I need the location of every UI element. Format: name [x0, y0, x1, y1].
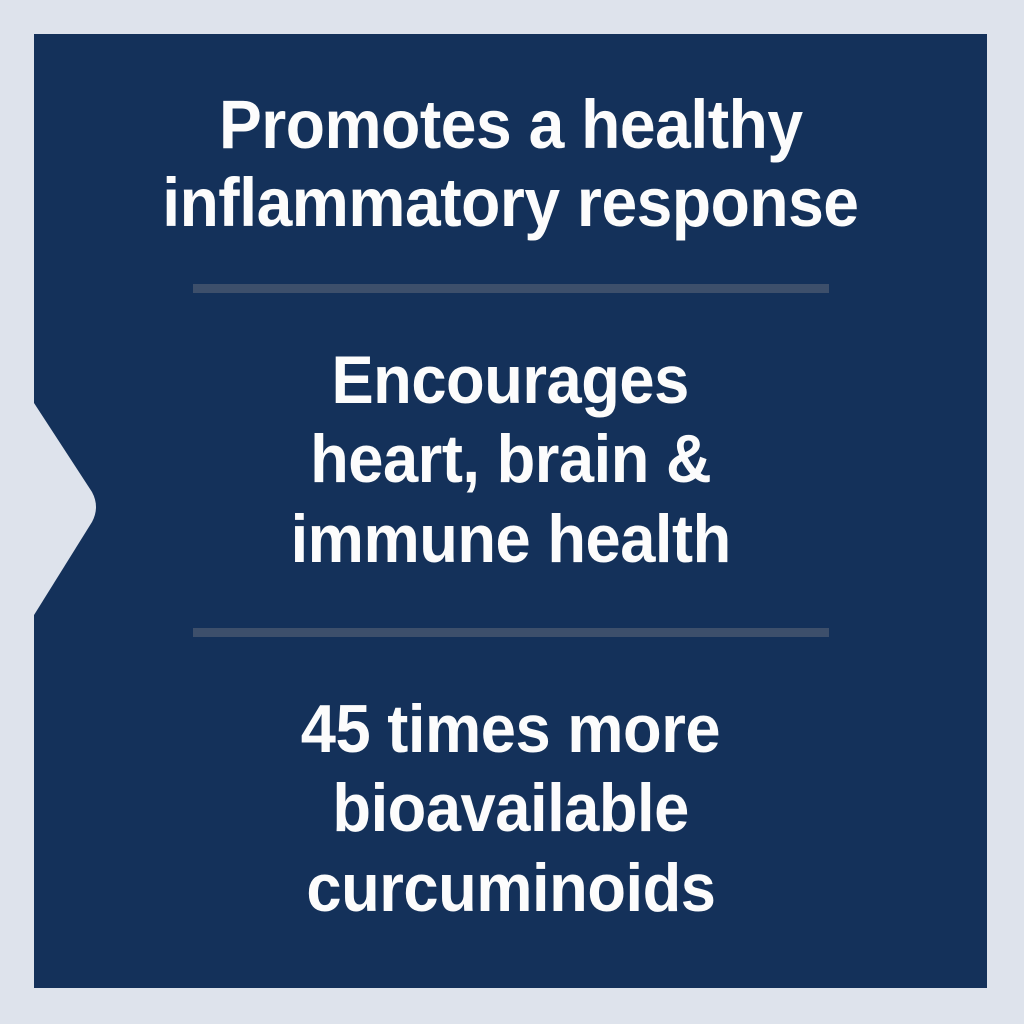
benefit-divider-row-1	[34, 271, 987, 305]
benefit-divider-row-2	[34, 615, 987, 649]
divider	[193, 284, 829, 293]
benefit-item-heart-brain-immune-health: Encourages heart, brain & immune health	[34, 305, 987, 615]
benefit-line: bioavailable	[332, 769, 688, 849]
benefits-list: Promotes a healthy inflammatory response…	[34, 34, 987, 988]
benefit-item-healthy-inflammatory-response: Promotes a healthy inflammatory response	[34, 34, 987, 271]
benefit-line: inflammatory response	[162, 164, 858, 242]
benefit-line: curcuminoids	[306, 849, 715, 929]
benefit-item-bioavailable-curcuminoids: 45 times more bioavailable curcuminoids	[34, 649, 987, 969]
benefits-callout-graphic: Promotes a healthy inflammatory response…	[0, 0, 1024, 1024]
benefit-line: immune health	[290, 500, 730, 580]
divider	[193, 628, 829, 637]
benefit-line: Encourages	[332, 341, 689, 421]
benefit-line: heart, brain &	[310, 420, 711, 500]
benefit-line: 45 times more	[301, 690, 720, 770]
benefit-line: Promotes a healthy	[219, 86, 803, 164]
